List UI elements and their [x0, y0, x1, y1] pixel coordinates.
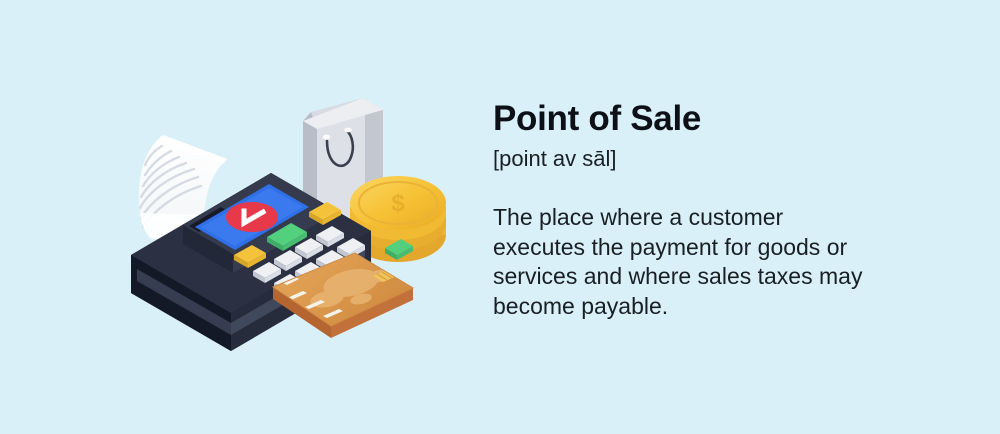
- check-mark-icon: [226, 202, 278, 232]
- page-title: Point of Sale: [493, 98, 923, 140]
- definition-card: $: [0, 0, 1000, 434]
- point-of-sale-illustration: $: [55, 55, 465, 385]
- svg-text:$: $: [391, 190, 405, 217]
- definition-text-block: Point of Sale [point av sāl] The place w…: [493, 98, 923, 321]
- coin-dollar-sign: $: [391, 190, 405, 217]
- pronunciation: [point av sāl]: [493, 144, 923, 174]
- definition-text: The place where a customer executes the …: [493, 203, 863, 321]
